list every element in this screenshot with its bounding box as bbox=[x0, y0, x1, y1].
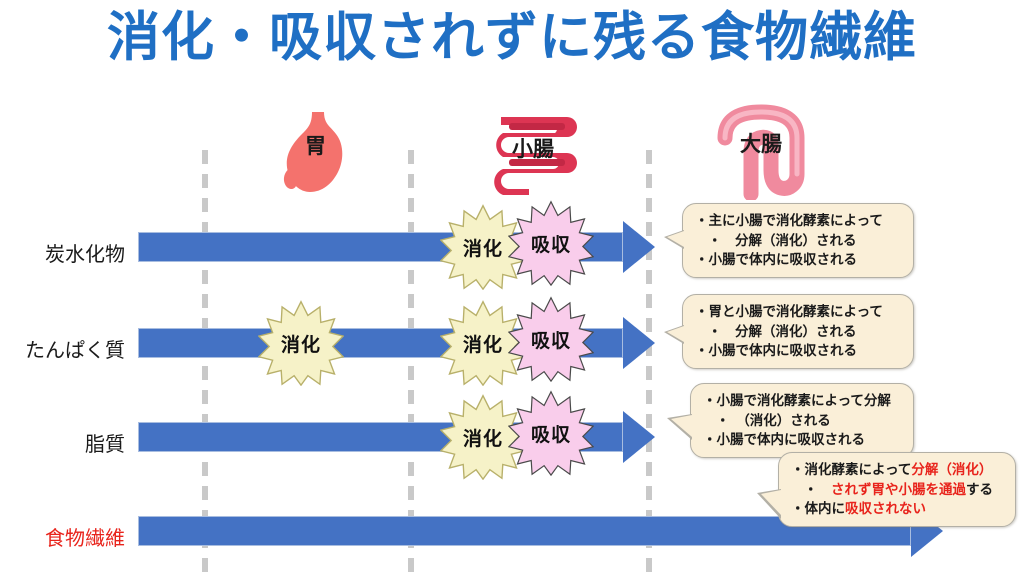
callout-list: 主に小腸で消化酵素によって 分解（消化）される 小腸で体内に吸収される bbox=[695, 211, 903, 270]
callout-line: 小腸で消化酵素によって分解 bbox=[703, 391, 903, 411]
callout-line: 消化酵素によって分解（消化） bbox=[791, 460, 1005, 480]
callout-line: 小腸で体内に吸収される bbox=[695, 341, 903, 361]
stomach-label: 胃 bbox=[305, 130, 326, 160]
row-label-carbohydrate: 炭水化物 bbox=[0, 238, 125, 267]
callout-list: 消化酵素によって分解（消化） されず胃や小腸を通過する 体内に吸収されない bbox=[791, 460, 1005, 519]
callout-line: 小腸で体内に吸収される bbox=[703, 430, 903, 450]
row-label-protein: たんぱく質 bbox=[0, 334, 125, 363]
callout-line-cont: 分解（消化）される bbox=[695, 231, 903, 251]
callout-line-cont: （消化）される bbox=[703, 411, 903, 431]
infographic-canvas: 消化・吸収されずに残る食物繊維 胃 小腸 大腸 炭水化物 消化 吸収 bbox=[0, 0, 1024, 576]
burst-absorption-fat: 吸収 bbox=[508, 390, 594, 476]
page-title: 消化・吸収されずに残る食物繊維 bbox=[0, 8, 1024, 69]
burst-absorption-protein: 吸収 bbox=[508, 296, 594, 382]
callout-carbohydrate: 主に小腸で消化酵素によって 分解（消化）される 小腸で体内に吸収される bbox=[682, 203, 914, 278]
callout-protein: 胃と小腸で消化酵素によって 分解（消化）される 小腸で体内に吸収される bbox=[682, 294, 914, 369]
burst-label: 吸収 bbox=[508, 200, 594, 286]
callout-dietary-fiber: 消化酵素によって分解（消化） されず胃や小腸を通過する 体内に吸収されない bbox=[778, 452, 1016, 527]
burst-label: 消化 bbox=[258, 300, 344, 386]
burst-digestion-protein-stomach: 消化 bbox=[258, 300, 344, 386]
divider-stomach-left bbox=[202, 150, 208, 570]
burst-label: 吸収 bbox=[508, 296, 594, 382]
callout-line: 体内に吸収されない bbox=[791, 499, 1005, 519]
large-intestine-label: 大腸 bbox=[740, 128, 782, 158]
divider-stomach-right bbox=[408, 150, 414, 570]
small-intestine-label: 小腸 bbox=[512, 133, 554, 163]
callout-line: 主に小腸で消化酵素によって bbox=[695, 211, 903, 231]
burst-label: 吸収 bbox=[508, 390, 594, 476]
callout-line-cont: 分解（消化）される bbox=[695, 322, 903, 342]
callout-line: 胃と小腸で消化酵素によって bbox=[695, 302, 903, 322]
callout-list: 胃と小腸で消化酵素によって 分解（消化）される 小腸で体内に吸収される bbox=[695, 302, 903, 361]
callout-line: 小腸で体内に吸収される bbox=[695, 250, 903, 270]
callout-list: 小腸で消化酵素によって分解 （消化）される 小腸で体内に吸収される bbox=[703, 391, 903, 450]
callout-line-cont: されず胃や小腸を通過する bbox=[791, 480, 1005, 500]
row-label-dietary-fiber: 食物繊維 bbox=[0, 522, 125, 551]
callout-fat: 小腸で消化酵素によって分解 （消化）される 小腸で体内に吸収される bbox=[690, 383, 914, 458]
burst-absorption-carbohydrate: 吸収 bbox=[508, 200, 594, 286]
row-label-fat: 脂質 bbox=[0, 428, 125, 457]
